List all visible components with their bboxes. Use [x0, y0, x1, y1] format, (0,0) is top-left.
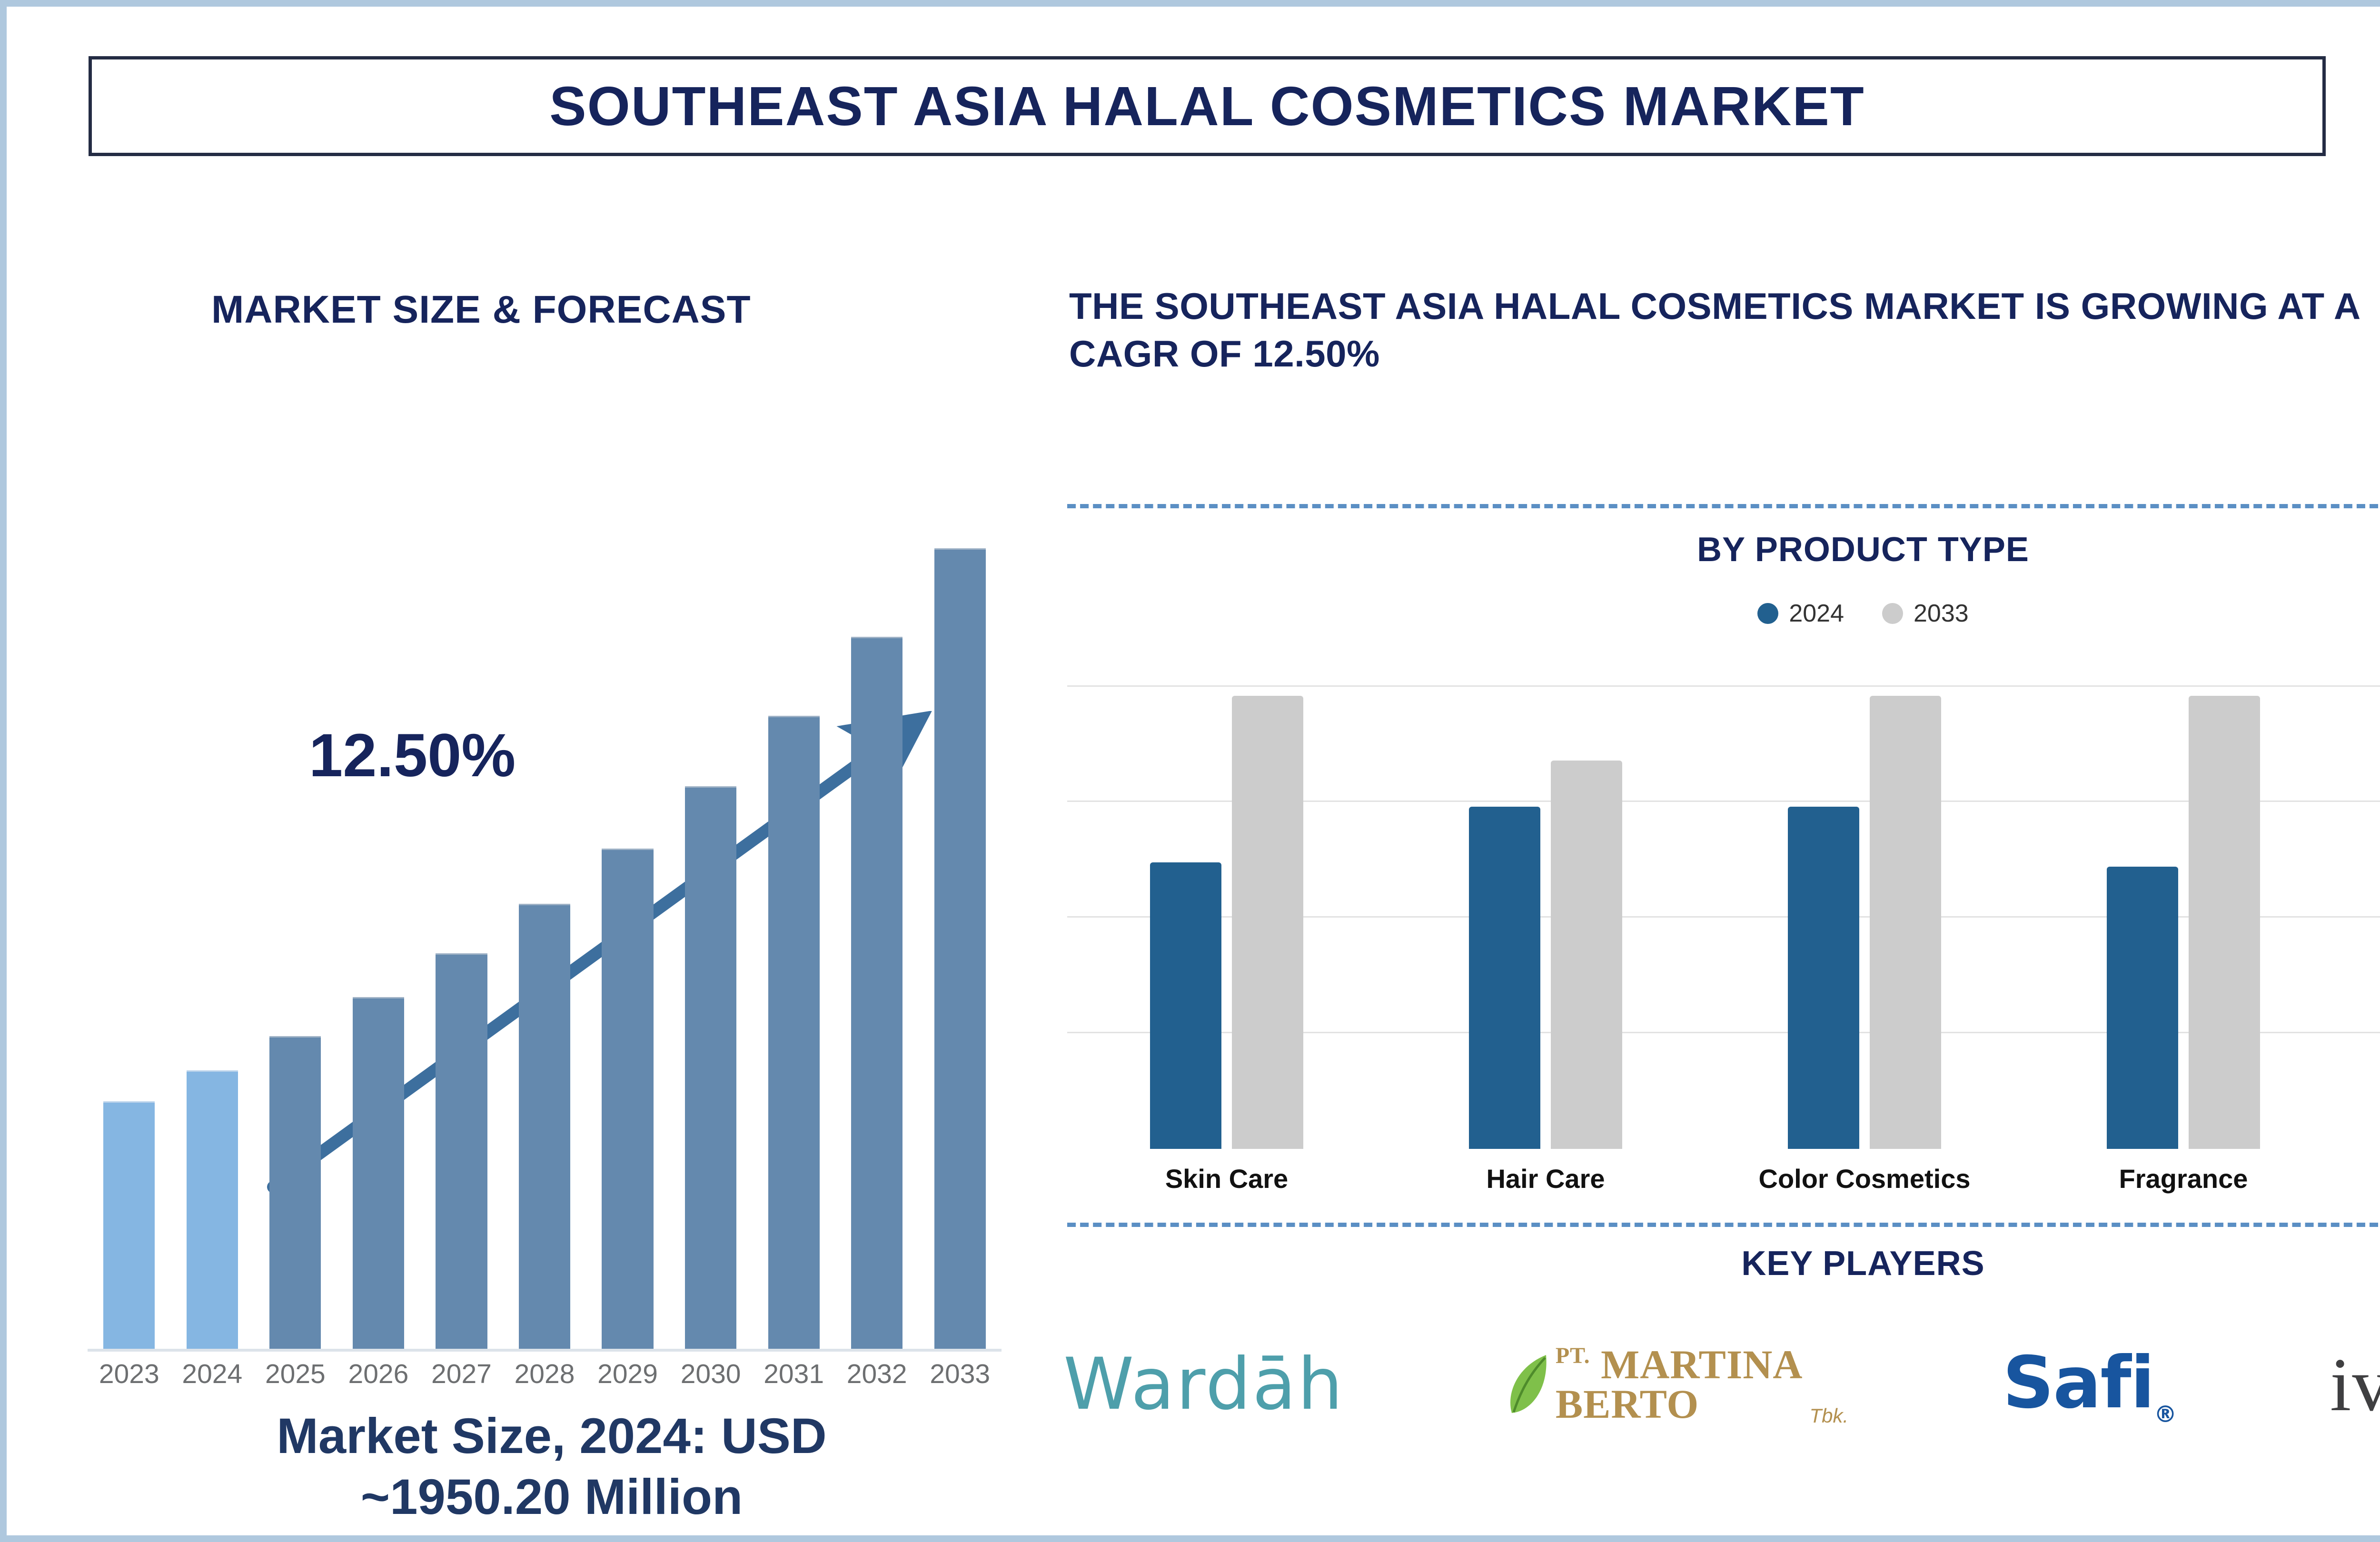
forecast-bar: [768, 716, 820, 1349]
forecast-x-axis: 2023202420252026202720282029203020312032…: [88, 1358, 1002, 1390]
title-box: SOUTHEAST ASIA HALAL COSMETICS MARKET: [89, 56, 2326, 156]
legend-label: 2033: [1914, 599, 1969, 628]
product-type-bar: [2107, 867, 2178, 1149]
forecast-bar: [187, 1070, 238, 1349]
key-players-heading: KEY PLAYERS: [1054, 1244, 2380, 1283]
forecast-bar-column: [420, 511, 503, 1349]
forecast-bar-column: [88, 511, 171, 1349]
market-size-line-2: ~1950.20 Million: [78, 1467, 1025, 1528]
product-type-bar-chart: [1067, 663, 2380, 1149]
product-type-label: Color Cosmetics: [1705, 1163, 2024, 1194]
legend-dot-icon: [1757, 603, 1778, 624]
legend-label: 2024: [1789, 599, 1844, 628]
logo-safi: Safi®: [2003, 1342, 2176, 1428]
forecast-bar: [685, 786, 736, 1349]
product-type-plot-area: [1067, 663, 2380, 1149]
legend-item[interactable]: 2024: [1757, 599, 1844, 628]
product-type-group: [1705, 663, 2024, 1149]
forecast-year-label: 2031: [752, 1358, 835, 1390]
product-type-panel: THE SOUTHEAST ASIA HALAL COSMETICS MARKE…: [1054, 245, 2380, 1492]
martina-pt-prefix: PT.: [1556, 1343, 1590, 1368]
ivy-wordmark: ivy: [2330, 1346, 2380, 1423]
forecast-bar: [519, 904, 570, 1349]
forecast-plot-area: [88, 511, 1002, 1352]
logo-wardah: Wardāh: [1063, 1343, 1344, 1426]
legend-item[interactable]: 2033: [1882, 599, 1969, 628]
forecast-bar: [353, 997, 404, 1349]
product-type-x-axis: Skin CareHair CareColor CosmeticsFragran…: [1067, 1163, 2380, 1194]
product-type-label: Skin Care: [1067, 1163, 1386, 1194]
product-type-bar: [2189, 696, 2260, 1149]
market-size-forecast-heading: MARKET SIZE & FORECAST: [211, 287, 751, 332]
forecast-bar-column: [918, 511, 1002, 1349]
forecast-bar: [851, 637, 902, 1349]
martina-berto-wordmark: PT. MARTINA BERTO: [1556, 1345, 1803, 1423]
product-type-group: [2343, 663, 2380, 1149]
leaf-icon: [1498, 1342, 1556, 1427]
forecast-bar: [602, 849, 653, 1349]
logo-ivy-beauty: ivy Beauty Corporation: [2330, 1346, 2380, 1423]
forecast-bar-column: [503, 511, 586, 1349]
forecast-bar-column: [669, 511, 753, 1349]
by-product-type-heading: BY PRODUCT TYPE: [1054, 530, 2380, 569]
product-type-group: [1067, 663, 1386, 1149]
product-type-label: Hair Care: [1386, 1163, 1705, 1194]
forecast-bar-column: [586, 511, 669, 1349]
product-type-bar: [1788, 807, 1859, 1149]
product-type-bar: [1469, 807, 1540, 1149]
forecast-bar-column: [752, 511, 835, 1349]
safi-wordmark: Safi: [2003, 1342, 2154, 1424]
forecast-year-label: 2030: [669, 1358, 753, 1390]
martina-tbk-suffix: Tbk.: [1810, 1404, 1849, 1427]
forecast-year-label: 2027: [420, 1358, 503, 1390]
martina-line-2: BERTO: [1556, 1384, 1803, 1424]
forecast-year-label: 2024: [171, 1358, 254, 1390]
market-size-line-1: Market Size, 2024: USD: [78, 1406, 1025, 1467]
forecast-bar-column: [254, 511, 337, 1349]
product-type-group: [1386, 663, 1705, 1149]
legend-dot-icon: [1882, 603, 1903, 624]
product-type-label: Fragrance: [2024, 1163, 2343, 1194]
forecast-bar: [103, 1101, 155, 1349]
forecast-bar: [436, 953, 487, 1349]
forecast-year-label: 2025: [254, 1358, 337, 1390]
product-type-bar: [1870, 696, 1941, 1149]
product-type-legend: 20242033: [1054, 599, 2380, 628]
forecast-bar: [934, 548, 986, 1349]
cagr-headline: THE SOUTHEAST ASIA HALAL COSMETICS MARKE…: [1069, 283, 2380, 378]
product-type-bar: [1150, 862, 1221, 1149]
market-size-forecast-panel: MARKET SIZE & FORECAST 12.50% 2023202420…: [50, 245, 1016, 1492]
product-type-bar: [1551, 761, 1622, 1149]
page-title: SOUTHEAST ASIA HALAL COSMETICS MARKET: [549, 74, 1865, 138]
divider-top: [1067, 504, 2380, 508]
forecast-bar: [269, 1036, 321, 1349]
divider-bottom: [1067, 1223, 2380, 1227]
forecast-year-label: 2023: [88, 1358, 171, 1390]
product-type-group: [2024, 663, 2343, 1149]
forecast-bar-column: [171, 511, 254, 1349]
logo-martina-berto: PT. MARTINA BERTO Tbk.: [1498, 1342, 1848, 1427]
forecast-year-label: 2032: [835, 1358, 919, 1390]
forecast-bar-column: [337, 511, 420, 1349]
forecast-year-label: 2033: [918, 1358, 1002, 1390]
product-type-label: Personal Care: [2343, 1163, 2380, 1194]
market-size-value: Market Size, 2024: USD ~1950.20 Million: [78, 1406, 1025, 1528]
forecast-year-label: 2028: [503, 1358, 586, 1390]
wardah-wordmark: Wardāh: [1063, 1343, 1344, 1426]
key-players-logos: Wardāh PT. MARTINA BERTO Tbk. Safi®: [1063, 1306, 2380, 1463]
infographic-page: SOUTHEAST ASIA HALAL COSMETICS MARKET MA…: [0, 0, 2380, 1542]
safi-registered-mark: ®: [2154, 1401, 2176, 1428]
forecast-year-label: 2026: [337, 1358, 420, 1390]
forecast-bar-column: [835, 511, 919, 1349]
product-type-bar: [1232, 696, 1303, 1149]
forecast-year-label: 2029: [586, 1358, 669, 1390]
forecast-bar-chart: 2023202420252026202720282029203020312032…: [59, 511, 1016, 1458]
